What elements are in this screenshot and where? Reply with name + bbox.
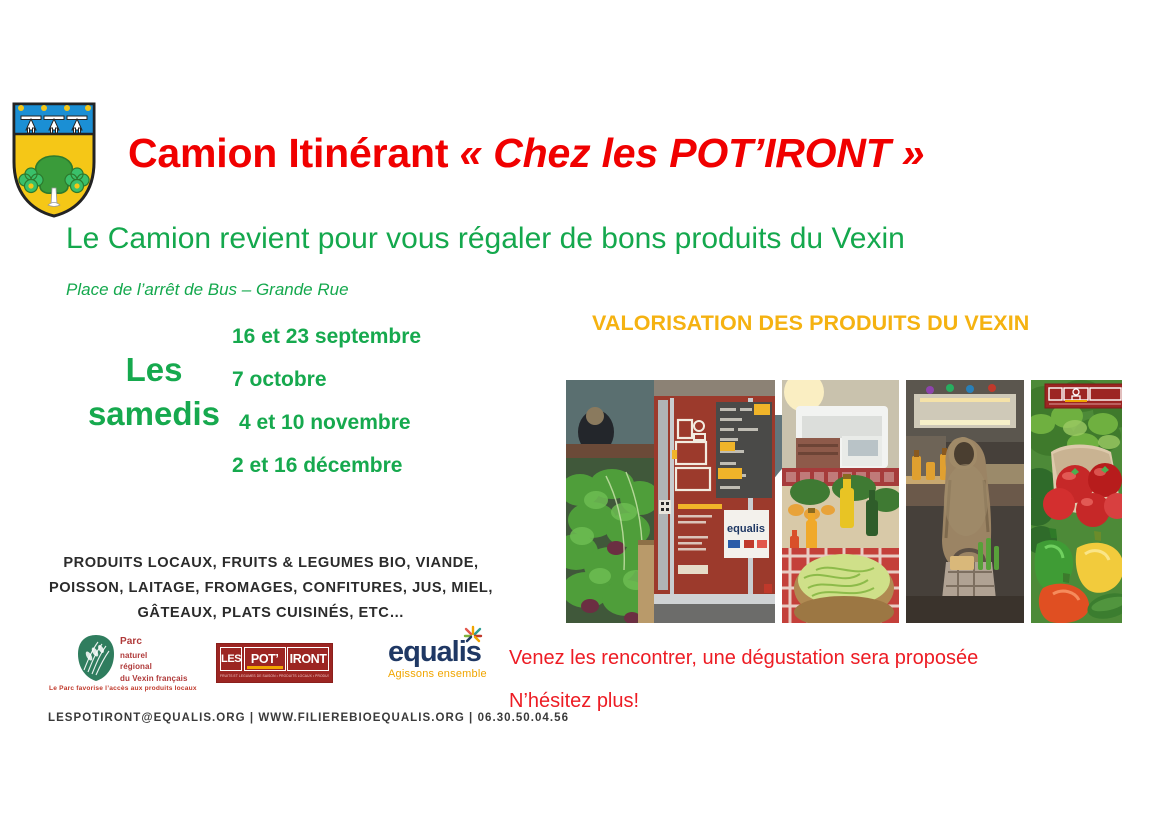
products-line-3: GÂTEAUX, PLATS CUISINÉS, ETC…	[40, 601, 502, 626]
equalis-wordmark: equalis	[388, 638, 500, 667]
valorisation-heading: VALORISATION DES PRODUITS DU VEXIN	[592, 311, 1029, 336]
equalis-logo: equalis Agissons	[388, 638, 500, 690]
les-potiront-logo: LES POT’ IRONT FRUITS ET LEGUMES DE SAIS…	[216, 643, 333, 683]
date-item: 16 et 23 septembre	[232, 326, 522, 347]
potiront-tagline: FRUITS ET LEGUMES DE SAISON • PRODUITS L…	[220, 674, 329, 678]
date-item: 7 octobre	[232, 369, 522, 390]
photo-market-stall-and-truck: equalis	[566, 380, 775, 623]
date-item: 2 et 16 décembre	[232, 455, 522, 476]
photo-white-truck-produce	[782, 380, 899, 623]
pnr-name-line2: naturel	[120, 650, 188, 662]
location-address: Place de l’arrêt de Bus – Grande Rue	[66, 280, 349, 300]
cta-line-2: N’hésitez plus!	[509, 680, 978, 723]
photo-vegetables-in-bag	[1031, 380, 1122, 623]
partner-logos: Parc naturel régional du Vexin français …	[44, 632, 506, 702]
parc-naturel-regional-logo: Parc naturel régional du Vexin français …	[48, 632, 218, 700]
days-label: Les samedis	[78, 348, 230, 435]
page-title: Camion Itinérant « Chez les POT’IRONT »	[128, 130, 1088, 177]
days-label-line2: samedis	[78, 392, 230, 436]
subtitle: Le Camion revient pour vous régaler de b…	[66, 222, 1106, 256]
photo-customer-at-stall	[906, 380, 1024, 623]
poster-canvas: Camion Itinérant « Chez les POT’IRONT » …	[0, 0, 1169, 745]
pnr-name: Parc naturel régional du Vexin français	[120, 635, 188, 684]
potiront-wordmark: LES POT’ IRONT	[220, 647, 329, 671]
title-quoted: « Chez les POT’IRONT »	[459, 130, 924, 176]
products-line-1: PRODUITS LOCAUX, FRUITS & LEGUMES BIO, V…	[40, 551, 502, 576]
pnr-name-line3: régional	[120, 661, 188, 673]
coat-of-arms-icon	[8, 100, 100, 218]
potiront-part-1: LES	[220, 647, 242, 671]
date-item: 4 et 10 novembre	[232, 412, 522, 433]
pnr-name-line1: Parc	[120, 635, 188, 650]
pnr-name-line4: du Vexin français	[120, 673, 188, 685]
potiront-part-2: POT’	[244, 647, 286, 671]
products-list: PRODUITS LOCAUX, FRUITS & LEGUMES BIO, V…	[40, 551, 502, 627]
contact-line: LESPOTIRONT@EQUALIS.ORG | WWW.FILIEREBIO…	[48, 712, 569, 724]
call-to-action: Venez les rencontrer, une dégustation se…	[509, 637, 978, 723]
svg-text:equalis: equalis	[727, 523, 765, 535]
equalis-tagline: Agissons ensemble	[388, 668, 500, 680]
starburst-icon	[462, 625, 484, 643]
pnr-shield-icon	[76, 634, 116, 682]
cta-line-1: Venez les rencontrer, une dégustation se…	[509, 637, 978, 680]
dates-list: 16 et 23 septembre 7 octobre 4 et 10 nov…	[232, 326, 522, 498]
photo-strip: equalis	[566, 380, 1122, 623]
products-line-2: POISSON, LAITAGE, FROMAGES, CONFITURES, …	[40, 576, 502, 601]
days-label-line1: Les	[78, 348, 230, 392]
title-main: Camion Itinérant	[128, 130, 459, 176]
pnr-tagline: Le Parc favorise l’accès aux produits lo…	[49, 685, 197, 692]
potiront-part-3: IRONT	[287, 647, 329, 671]
